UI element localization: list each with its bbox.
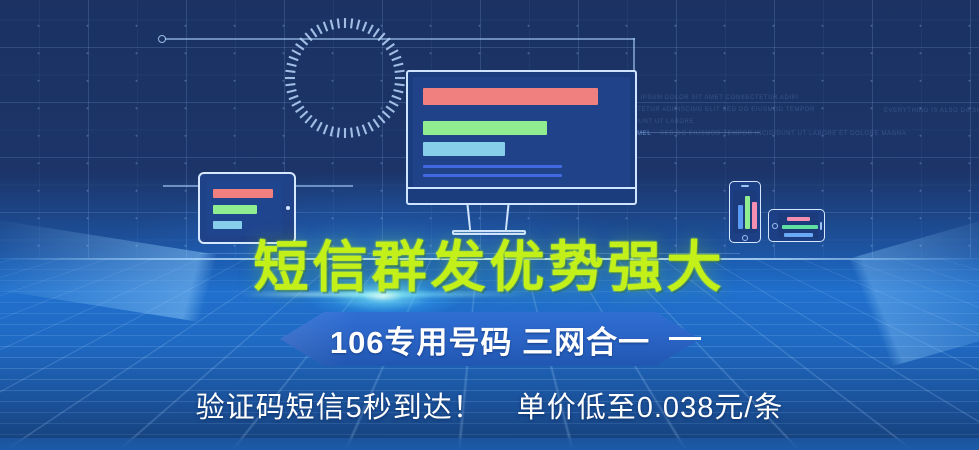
tablet-bar-green [213, 205, 257, 214]
tagline: 验证码短信5秒到达！单价低至0.038元/条 [0, 384, 979, 426]
radial-dial-svg [281, 14, 409, 142]
sms-promo-banner: LOREM IPSUM DOLOR SIT AMET CONSECTETUR A… [0, 0, 979, 450]
bottom-accent-bar [0, 438, 979, 450]
bg-text-right: EVERYTHING IS ALSO DA SHI [884, 108, 979, 114]
phone-landscape-home-button [772, 223, 778, 229]
bg-text-line-2: CONSECTETUR ADIPISCING ELIT SED DO EIUSM… [608, 107, 815, 113]
tablet-device [198, 172, 296, 244]
tablet-home-button [286, 206, 290, 210]
monitor-line-2 [423, 174, 562, 177]
phone-landscape-screen [778, 213, 818, 238]
phone-landscape-bar-green [782, 225, 818, 229]
ribbon-accent-line [669, 337, 701, 340]
phone-portrait [729, 181, 761, 243]
phone-landscape [768, 209, 825, 242]
monitor-bezel-divider [408, 187, 635, 189]
connector-node-top [158, 35, 166, 43]
monitor-screen [413, 77, 630, 187]
monitor-stand-base [452, 230, 526, 235]
phone-portrait-screen [733, 190, 757, 233]
phone-portrait-bar-blue [738, 205, 743, 229]
page-title: 短信群发优势强大 [0, 240, 979, 295]
bg-text-line-4: SED DO EIUSMOD TEMPOR INCIDIDUNT UT LABO… [660, 131, 906, 137]
monitor-line-1 [423, 165, 562, 168]
radial-dial-icon [281, 14, 409, 142]
phone-landscape-speaker [820, 222, 822, 230]
phone-portrait-speaker [741, 185, 749, 187]
monitor-stand-neck [466, 205, 509, 232]
monitor-bar-red [423, 88, 598, 105]
tagline-right: 单价低至0.038元/条 [517, 392, 784, 424]
phone-portrait-bar-green [745, 196, 750, 229]
phone-portrait-bar-pink [752, 202, 757, 229]
desktop-monitor [406, 70, 637, 205]
monitor-bar-blue [423, 142, 505, 156]
tablet-bar-red [213, 189, 273, 198]
phone-landscape-bar-pink [787, 217, 810, 221]
tagline-left: 验证码短信5秒到达！ [196, 392, 483, 424]
bg-text-line-1: LOREM IPSUM DOLOR SIT AMET CONSECTETUR A… [614, 95, 799, 101]
tablet-screen [207, 180, 282, 236]
tablet-bar-blue [213, 221, 242, 229]
monitor-bar-green [423, 121, 547, 135]
phone-landscape-bar-blue [784, 233, 813, 237]
feature-ribbon-label: 106专用号码 三网合一 [330, 317, 650, 362]
feature-ribbon: 106专用号码 三网合一 [280, 312, 700, 366]
